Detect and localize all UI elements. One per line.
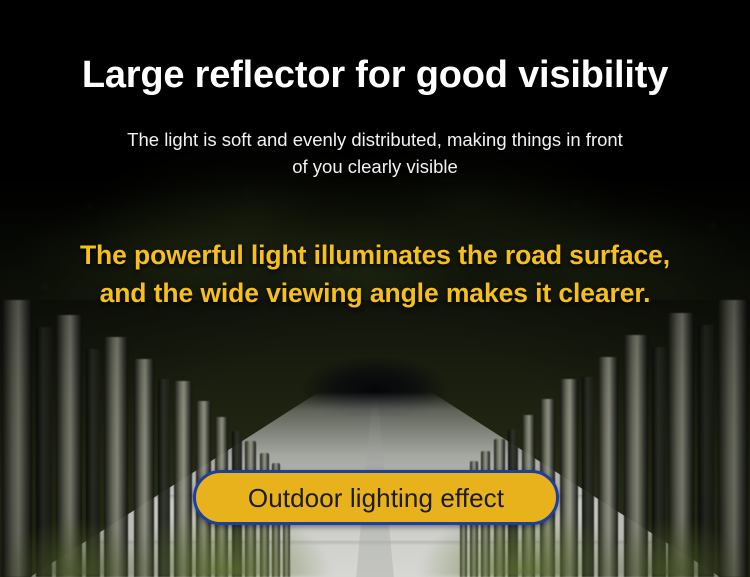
subtitle-line-2: of you clearly visible	[0, 153, 750, 180]
pitch-line-2: and the wide viewing angle makes it clea…	[0, 274, 750, 312]
poster-content: Large reflector for good visibility The …	[0, 0, 750, 577]
subtitle: The light is soft and evenly distributed…	[0, 126, 750, 180]
subtitle-line-1: The light is soft and evenly distributed…	[0, 126, 750, 153]
outdoor-lighting-effect-button[interactable]: Outdoor lighting effect	[193, 470, 559, 525]
pitch-line-1: The powerful light illuminates the road …	[0, 236, 750, 274]
cta-label: Outdoor lighting effect	[248, 485, 504, 511]
pitch-text: The powerful light illuminates the road …	[0, 236, 750, 312]
promo-poster: Large reflector for good visibility The …	[0, 0, 750, 577]
page-title: Large reflector for good visibility	[0, 52, 750, 98]
